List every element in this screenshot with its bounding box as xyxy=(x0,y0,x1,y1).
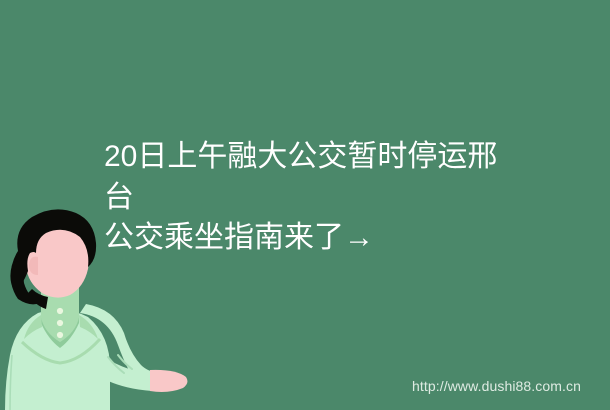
button-icon xyxy=(57,320,63,326)
headline-line-1: 20日上午融大公交暂时停运邢台 xyxy=(104,136,524,218)
button-icon xyxy=(57,332,63,338)
button-icon xyxy=(57,308,63,314)
hand-group xyxy=(150,370,187,392)
headline-line-2: 公交乘坐指南来了→ xyxy=(104,217,524,258)
watermark-url: http://www.dushi88.com.cn xyxy=(412,378,581,395)
headline: 20日上午融大公交暂时停运邢台 公交乘坐指南来了→ xyxy=(104,136,524,258)
image-canvas: 20日上午融大公交暂时停运邢台 公交乘坐指南来了→ http://www.dus… xyxy=(0,0,610,410)
